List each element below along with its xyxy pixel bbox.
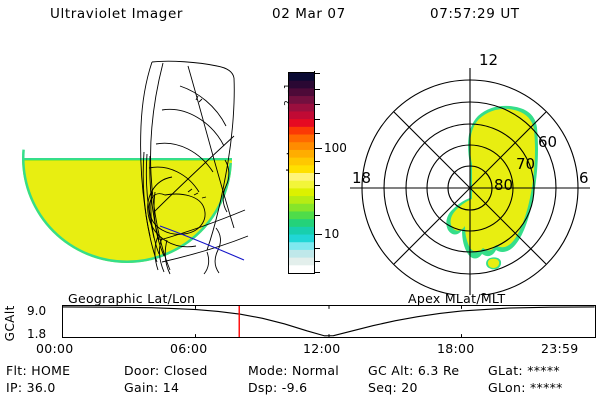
orbit-altitude-curve (63, 306, 595, 337)
mlt-label-12: 12 (479, 51, 498, 69)
orbit-xtick-2: 12:00 (303, 341, 341, 356)
geographic-globe-image (2, 40, 252, 295)
orbit-xtick-0: 00:00 (36, 341, 74, 356)
mlat-label-80: 80 (494, 176, 513, 194)
colorbar-tick-10: 10 (324, 228, 339, 240)
mlt-spokes (350, 68, 590, 295)
status-field-glon: GLon: ***** (488, 380, 563, 395)
orbit-xtick-4: 23:59 (541, 341, 579, 356)
header: Ultraviolet Imager 02 Mar 07 07:57:29 UT (0, 6, 600, 28)
orbit-altitude-plot[interactable] (62, 305, 596, 338)
observation-time: 07:57:29 UT (430, 6, 520, 22)
status-field-flt: Flt: HOME (6, 363, 70, 378)
colorbar-panel[interactable]: photon cm-2s-1 100 10 (255, 46, 347, 296)
orbit-axis-label-alt: Alt (3, 292, 17, 336)
orbit-xtick-3: 18:00 (437, 341, 475, 356)
status-bar: Flt: HOMEDoor: ClosedMode: NormalGC Alt:… (6, 363, 600, 399)
status-field-mode: Mode: Normal (248, 363, 339, 378)
colorbar-tick-100: 100 (324, 142, 347, 154)
orbit-ytick-low: 1.8 (27, 327, 46, 341)
geographic-globe-panel[interactable] (2, 40, 252, 295)
uvi-summary-plot: Ultraviolet Imager 02 Mar 07 07:57:29 UT (0, 0, 600, 400)
status-field-gain: Gain: 14 (124, 380, 179, 395)
emission-fill (12, 54, 242, 271)
status-field-dsp: Dsp: -9.6 (248, 380, 307, 395)
apex-polar-panel[interactable]: 12 6 0 18 60 70 80 (348, 40, 592, 295)
orbit-ytick-high: 9.0 (27, 304, 46, 318)
status-field-door: Door: Closed (124, 363, 208, 378)
mlat-label-60: 60 (538, 133, 557, 151)
status-field-gcalt: GC Alt: 6.3 Re (368, 363, 459, 378)
colorbar-gradient (289, 73, 314, 273)
orbit-xaxis-ticks: 00:0006:0012:0018:0023:59 (0, 341, 600, 357)
mlt-label-18: 18 (352, 169, 371, 187)
status-field-seq: Seq: 20 (368, 380, 418, 395)
right-panel-title: Apex MLat/MLT (408, 291, 505, 306)
panel-subtitles: Geographic Lat/Lon Apex MLat/MLT (0, 291, 600, 306)
mlat-label-70: 70 (516, 155, 535, 173)
instrument-title: Ultraviolet Imager (50, 6, 183, 22)
status-field-glat: GLat: ***** (488, 363, 560, 378)
mlt-label-6: 6 (579, 169, 589, 187)
observation-date: 02 Mar 07 (272, 6, 346, 22)
status-field-ip: IP: 36.0 (6, 380, 56, 395)
status-row: IP: 36.0Gain: 14Dsp: -9.6Seq: 20GLon: **… (6, 380, 600, 397)
status-row: Flt: HOMEDoor: ClosedMode: NormalGC Alt:… (6, 363, 600, 380)
colorbar-gradient-box (288, 72, 315, 274)
apex-polar-image: 12 6 0 18 60 70 80 (348, 40, 592, 295)
orbit-xtick-1: 06:00 (170, 341, 208, 356)
left-panel-title: Geographic Lat/Lon (68, 291, 195, 306)
colorbar-ticks: 100 10 (315, 71, 347, 274)
